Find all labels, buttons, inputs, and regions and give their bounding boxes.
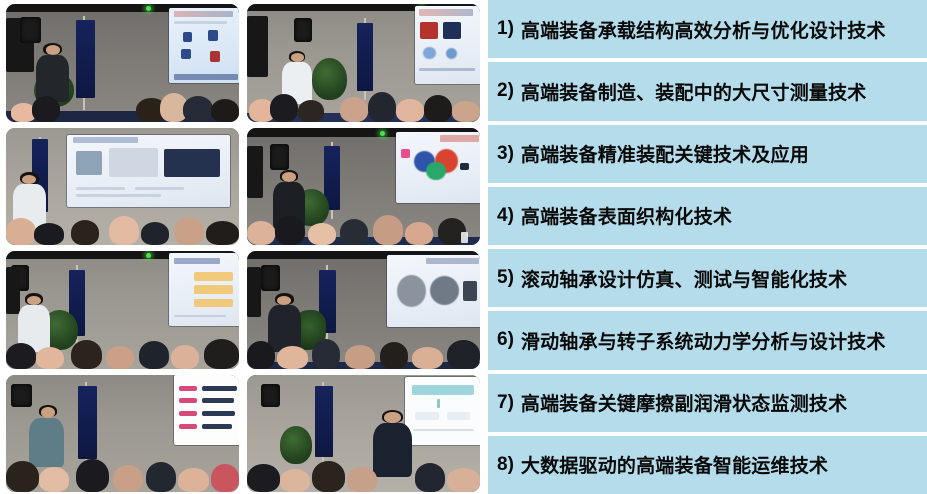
topic-number: 1) [497,18,514,40]
photo-r1c6 [247,251,480,369]
photo-r1c5 [6,251,239,369]
topic-label: 大数据驱动的高端装备智能运维技术 [521,451,828,478]
topic-number: 7) [497,392,514,414]
photo-r1c4 [247,128,480,246]
photo-item [247,375,480,493]
topic-number: 2) [497,80,514,102]
presentation-slide: 1) 高端装备承载结构高效分析与优化设计技术 2) 高端装备制造、装配中的大尺寸… [0,0,927,494]
topic-label: 滚动轴承设计仿真、测试与智能化技术 [521,265,847,292]
topic-number: 6) [497,329,514,351]
photo-item [6,251,239,369]
topic-item-4[interactable]: 4) 高端装备表面织构化技术 [488,187,927,245]
topic-number: 5) [497,267,514,289]
photo-r1c1 [6,4,239,122]
topic-item-5[interactable]: 5) 滚动轴承设计仿真、测试与智能化技术 [488,249,927,307]
topic-item-2[interactable]: 2) 高端装备制造、装配中的大尺寸测量技术 [488,62,927,120]
photo-r1c2 [247,4,480,122]
topic-item-3[interactable]: 3) 高端装备精准装配关键技术及应用 [488,125,927,183]
photo-item [247,251,480,369]
photo-grid [6,4,480,492]
topic-label: 高端装备制造、装配中的大尺寸测量技术 [521,78,867,105]
photo-r1c3 [6,128,239,246]
topic-item-1[interactable]: 1) 高端装备承载结构高效分析与优化设计技术 [488,0,927,58]
photo-item [6,375,239,493]
topic-item-8[interactable]: 8) 大数据驱动的高端装备智能运维技术 [488,436,927,494]
topic-label: 滑动轴承与转子系统动力学分析与设计技术 [521,327,886,354]
topic-number: 8) [497,454,514,476]
photo-item [247,128,480,246]
topic-label: 高端装备承载结构高效分析与优化设计技术 [521,16,886,43]
photo-r1c7 [6,375,239,493]
topic-item-6[interactable]: 6) 滑动轴承与转子系统动力学分析与设计技术 [488,311,927,369]
topic-label: 高端装备精准装配关键技术及应用 [521,140,809,167]
topic-number: 3) [497,143,514,165]
topic-list: 1) 高端装备承载结构高效分析与优化设计技术 2) 高端装备制造、装配中的大尺寸… [488,0,927,494]
topic-item-7[interactable]: 7) 高端装备关键摩擦副润滑状态监测技术 [488,374,927,432]
photo-item [247,4,480,122]
topic-label: 高端装备关键摩擦副润滑状态监测技术 [521,389,847,416]
photo-item [6,128,239,246]
topic-label: 高端装备表面织构化技术 [521,202,732,229]
photo-r1c8 [247,375,480,493]
topic-number: 4) [497,205,514,227]
photo-item [6,4,239,122]
